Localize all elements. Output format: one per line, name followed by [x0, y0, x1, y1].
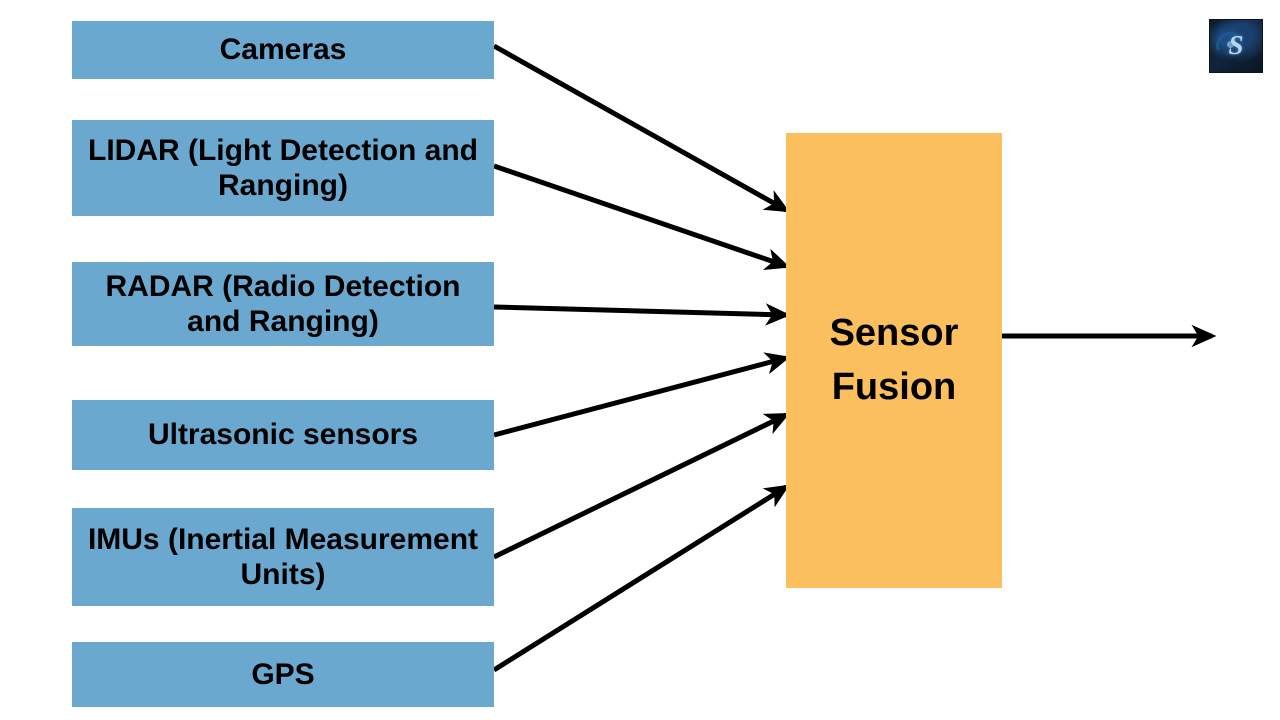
sensor-box-lidar[interactable]: LIDAR (Light Detection and Ranging) — [72, 120, 494, 216]
logo-letter-icon: S — [1210, 30, 1262, 61]
sensor-fusion-label: Sensor Fusion — [830, 307, 959, 415]
sensor-fusion-label-line2: Fusion — [832, 366, 957, 408]
edge-gps-to-fusion — [494, 487, 786, 670]
sensor-box-cameras[interactable]: Cameras — [72, 21, 494, 79]
edge-ultrasonic-to-fusion — [494, 358, 786, 435]
sensor-fusion-box[interactable]: Sensor Fusion — [786, 133, 1002, 588]
edge-layer — [0, 0, 1280, 720]
edge-imus-to-fusion — [494, 415, 786, 557]
edge-radar-to-fusion — [494, 307, 786, 315]
edge-lidar-to-fusion — [494, 166, 786, 266]
sensor-label-imus: IMUs (Inertial Measurement Units) — [82, 522, 484, 593]
diagram-canvas: Cameras LIDAR (Light Detection and Rangi… — [0, 0, 1280, 720]
sensor-label-ultrasonic: Ultrasonic sensors — [82, 417, 484, 452]
sensor-box-ultrasonic[interactable]: Ultrasonic sensors — [72, 400, 494, 470]
sensor-label-cameras: Cameras — [82, 32, 484, 67]
watermark-logo: S — [1209, 19, 1263, 73]
sensor-fusion-label-line1: Sensor — [830, 312, 959, 354]
sensor-label-lidar: LIDAR (Light Detection and Ranging) — [82, 133, 484, 204]
sensor-box-radar[interactable]: RADAR (Radio Detection and Ranging) — [72, 262, 494, 346]
sensor-box-imus[interactable]: IMUs (Inertial Measurement Units) — [72, 508, 494, 606]
sensor-label-gps: GPS — [82, 657, 484, 692]
sensor-box-gps[interactable]: GPS — [72, 642, 494, 707]
sensor-label-radar: RADAR (Radio Detection and Ranging) — [82, 269, 484, 340]
edge-cameras-to-fusion — [494, 46, 786, 210]
